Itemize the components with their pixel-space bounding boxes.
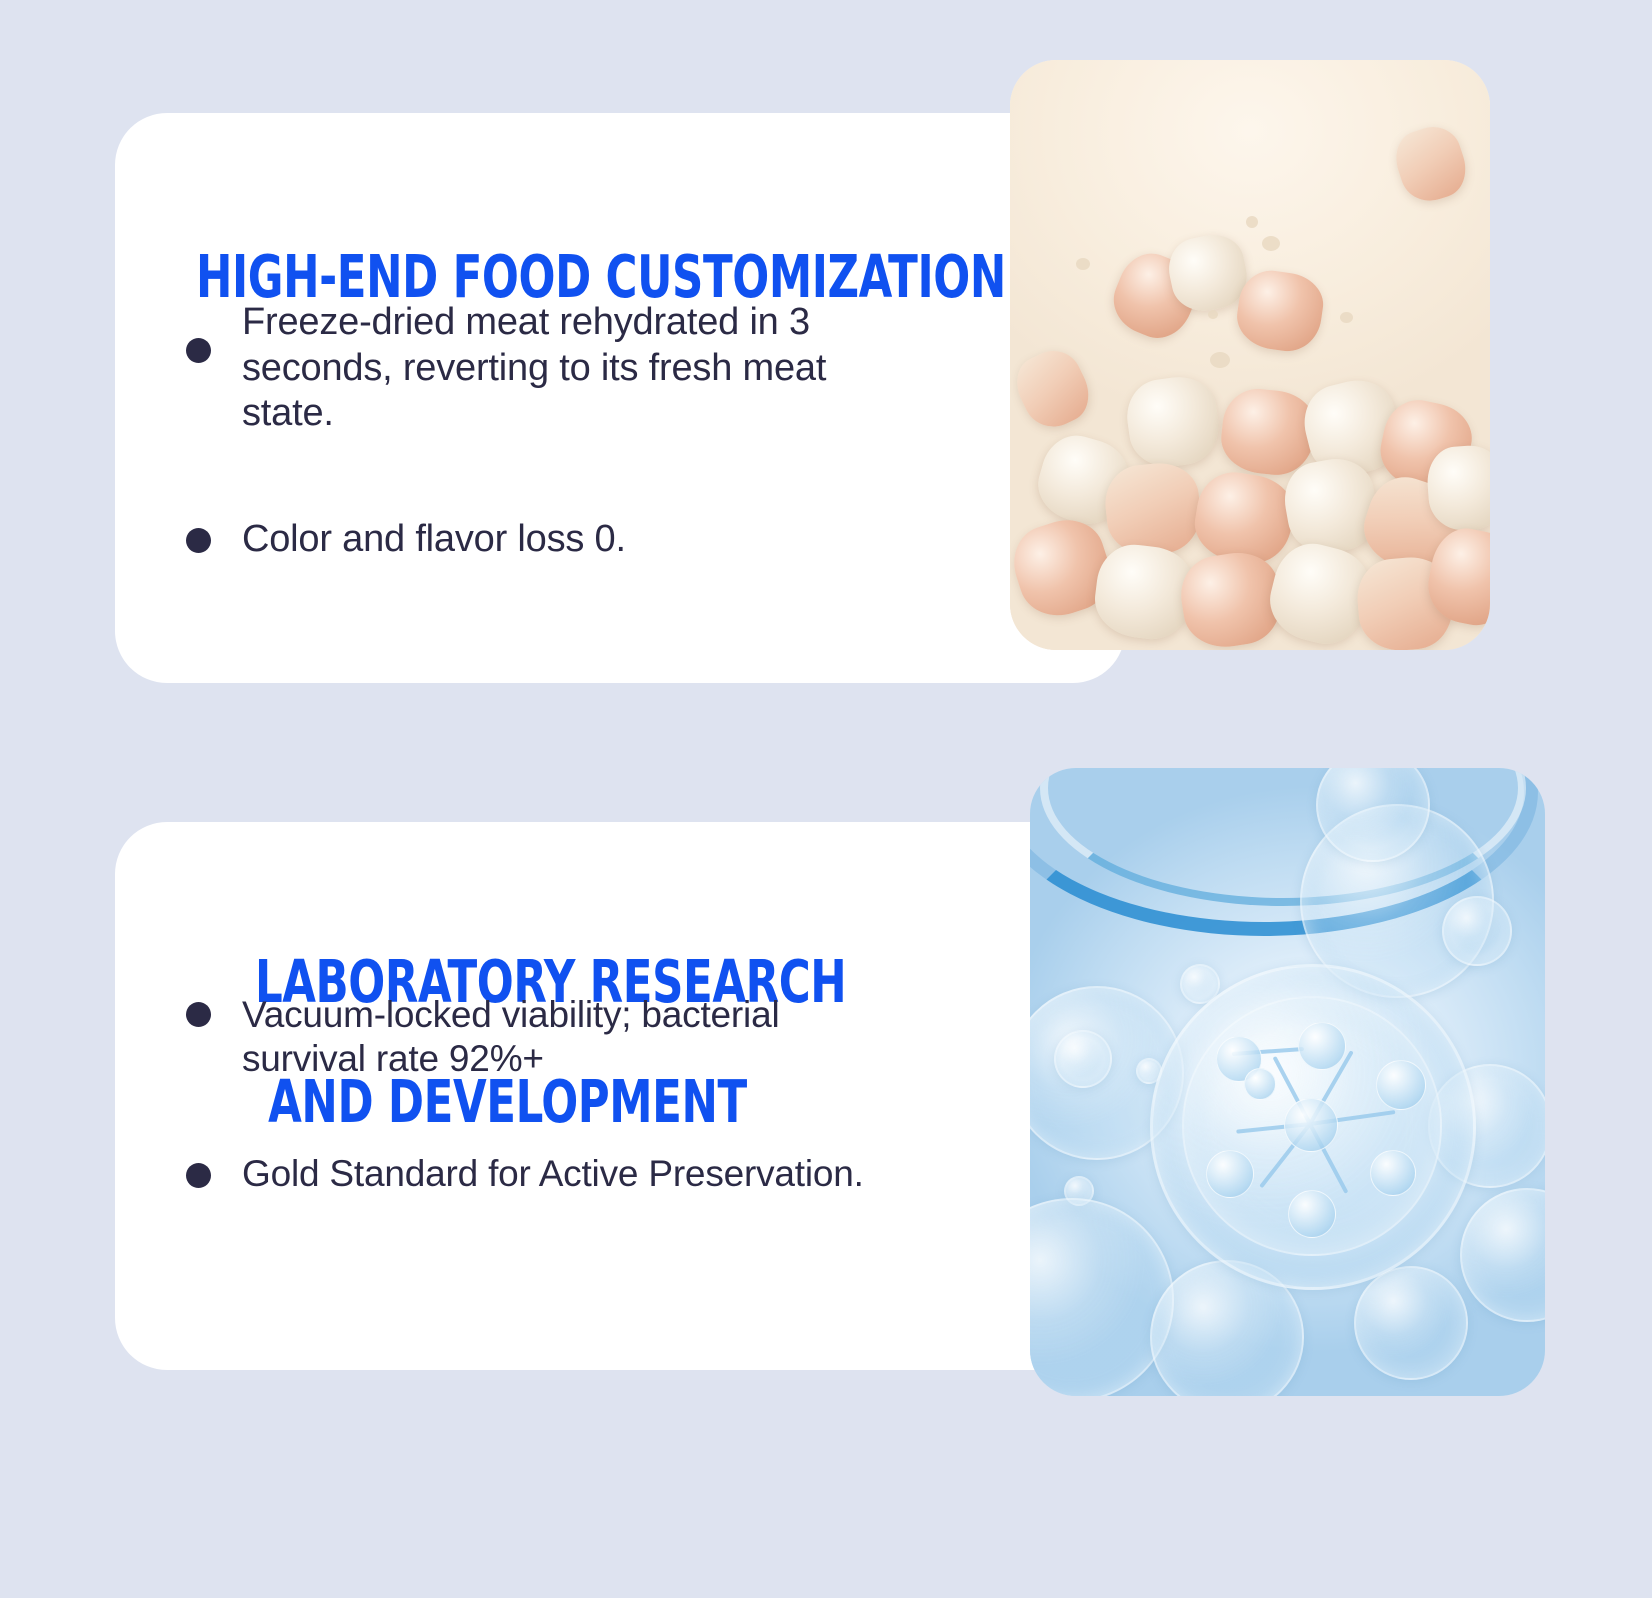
card-1-bullet-list: Freeze-dried meat rehydrated in 3 second…: [186, 300, 916, 562]
lab-bubbles-photo: [1030, 768, 1545, 1396]
card-2-bullet-list: Vacuum-locked viability; bacterial survi…: [186, 993, 996, 1196]
list-item-text: Gold Standard for Active Preservation.: [242, 1152, 996, 1196]
meat-crumb: [1208, 310, 1218, 319]
meat-crumb: [1246, 216, 1258, 228]
card-1-heading: HIGH-END FOOD CUSTOMIZATION: [196, 247, 1006, 307]
molecule-node: [1298, 1022, 1346, 1070]
list-item: Color and flavor loss 0.: [186, 517, 916, 563]
bubble: [1054, 1030, 1112, 1088]
list-spacer: [186, 1082, 996, 1152]
list-item-text: Color and flavor loss 0.: [242, 517, 916, 563]
bubble: [1442, 896, 1512, 966]
molecule-node: [1376, 1060, 1426, 1110]
meat-crumb: [1262, 236, 1280, 251]
bullet-dot-icon: [186, 1163, 211, 1188]
meat-crumb: [1076, 258, 1090, 270]
bubble: [1354, 1266, 1468, 1380]
molecule-node: [1244, 1068, 1276, 1100]
list-item-text: Freeze-dried meat rehydrated in 3 second…: [242, 300, 916, 437]
bullet-dot-icon: [186, 1002, 211, 1027]
bullet-dot-icon: [186, 528, 211, 553]
list-item: Freeze-dried meat rehydrated in 3 second…: [186, 300, 916, 437]
meat-crumb: [1210, 352, 1230, 368]
meat-crumb: [1340, 312, 1353, 323]
list-item-text: Vacuum-locked viability; bacterial survi…: [242, 993, 996, 1082]
molecule-node: [1288, 1190, 1336, 1238]
page-root: HIGH-END FOOD CUSTOMIZATION Freeze-dried…: [0, 0, 1652, 1598]
molecule-node: [1206, 1150, 1254, 1198]
freeze-dried-meat-photo: [1010, 60, 1490, 650]
molecule-node: [1370, 1150, 1416, 1196]
molecule-node: [1284, 1098, 1338, 1152]
bullet-dot-icon: [186, 338, 211, 363]
list-spacer: [186, 437, 916, 517]
list-item: Gold Standard for Active Preservation.: [186, 1152, 996, 1196]
list-item: Vacuum-locked viability; bacterial survi…: [186, 993, 996, 1082]
